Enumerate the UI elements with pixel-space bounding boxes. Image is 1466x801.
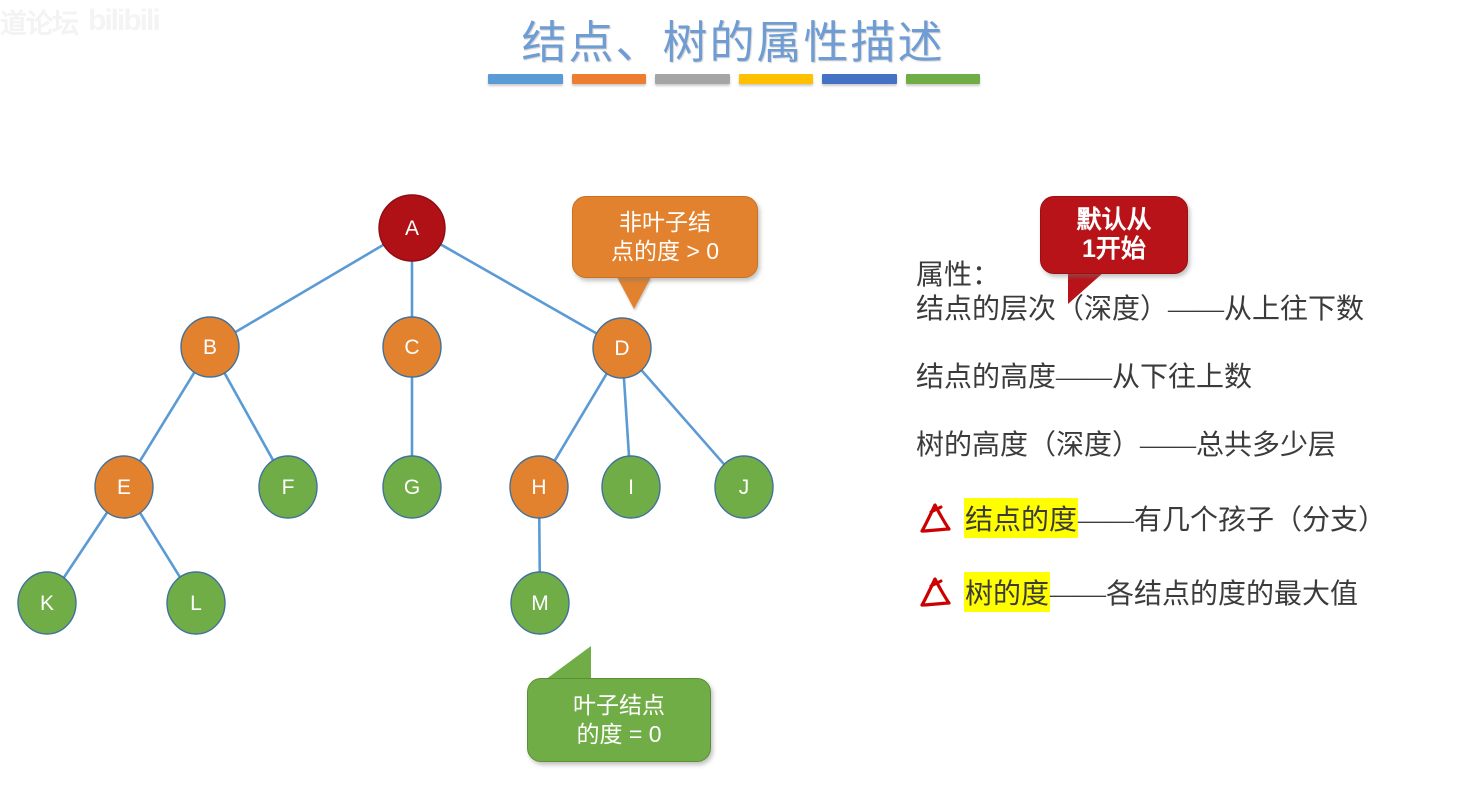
properties-panel: 属性： 结点的层次（深度）——从上往下数 结点的高度——从下往上数 树的高度（深… bbox=[916, 262, 1456, 612]
tree-edge-D-H bbox=[553, 371, 609, 464]
tree-node-D[interactable]: D bbox=[593, 318, 651, 378]
node-label-M: M bbox=[531, 592, 549, 615]
property-node-degree-row: 结点的度 ——有几个孩子（分支） bbox=[916, 498, 1456, 538]
tree-node-H[interactable]: H bbox=[510, 456, 568, 518]
tree-edge-E-K bbox=[62, 509, 109, 581]
accent-bar-6 bbox=[906, 74, 981, 84]
tree-node-E[interactable]: E bbox=[95, 456, 153, 518]
tree-edge-H-M bbox=[539, 514, 540, 577]
triangle-bullet-icon bbox=[916, 575, 954, 609]
tree-node-G[interactable]: G bbox=[383, 456, 441, 518]
tree-edge-D-I bbox=[624, 375, 630, 461]
node-label-G: G bbox=[404, 476, 420, 499]
tree-edge-B-F bbox=[223, 370, 275, 463]
nonleaf-callout-text: 非叶子结 点的度 > 0 bbox=[611, 208, 719, 267]
nonleaf-callout-line2: 点的度 > 0 bbox=[611, 238, 719, 264]
node-label-A: A bbox=[405, 217, 419, 240]
tree-node-A[interactable]: A bbox=[379, 195, 445, 261]
tree-node-J[interactable]: J bbox=[715, 456, 773, 518]
tree-node-C[interactable]: C bbox=[383, 317, 441, 377]
default-start-line2: 1开始 bbox=[1082, 235, 1146, 263]
tree-diagram: ABCDEFGHIJKLM bbox=[0, 0, 860, 801]
leaf-callout-text: 叶子结点 的度 = 0 bbox=[573, 691, 665, 750]
tree-edge-E-L bbox=[138, 510, 182, 581]
node-label-C: C bbox=[404, 336, 419, 359]
tree-node-B[interactable]: B bbox=[181, 317, 239, 377]
tree-node-M[interactable]: M bbox=[511, 572, 569, 634]
triangle-bullet-icon bbox=[916, 501, 954, 535]
property-node-degree-rest: ——有几个孩子（分支） bbox=[1078, 498, 1386, 538]
panel-heading: 属性： bbox=[916, 262, 1456, 290]
nonleaf-callout-tail bbox=[617, 277, 651, 309]
tree-node-F[interactable]: F bbox=[259, 456, 317, 518]
nonleaf-degree-callout: 非叶子结 点的度 > 0 bbox=[572, 196, 758, 278]
tree-edge-A-B bbox=[233, 243, 386, 333]
leaf-callout-line1: 叶子结点 bbox=[573, 692, 665, 718]
property-node-level: 结点的层次（深度）——从上往下数 bbox=[916, 296, 1456, 324]
tree-node-K[interactable]: K bbox=[18, 572, 76, 634]
node-label-I: I bbox=[628, 476, 634, 499]
node-label-E: E bbox=[117, 476, 131, 499]
tree-edge-B-E bbox=[138, 370, 196, 465]
property-tree-degree-highlight: 树的度 bbox=[964, 572, 1050, 612]
tree-node-L[interactable]: L bbox=[167, 572, 225, 634]
node-label-L: L bbox=[190, 592, 202, 615]
property-node-degree-highlight: 结点的度 bbox=[964, 498, 1078, 538]
tree-node-I[interactable]: I bbox=[602, 456, 660, 518]
default-start-callout-text: 默认从 1开始 bbox=[1076, 206, 1151, 265]
node-label-H: H bbox=[531, 476, 546, 499]
leaf-callout-tail bbox=[545, 646, 591, 680]
leaf-degree-callout: 叶子结点 的度 = 0 bbox=[527, 678, 711, 762]
slide-canvas: 道论坛 bilibili 结点、树的属性描述 ABCDEFGHIJKLM 非叶子… bbox=[0, 0, 1466, 801]
node-label-F: F bbox=[282, 476, 295, 499]
property-tree-degree-rest: ——各结点的度的最大值 bbox=[1050, 572, 1358, 612]
nonleaf-callout-line1: 非叶子结 bbox=[619, 209, 711, 235]
tree-edge-D-J bbox=[640, 368, 727, 467]
node-label-D: D bbox=[614, 337, 629, 360]
default-start-line1: 默认从 bbox=[1076, 206, 1151, 234]
property-tree-degree-row: 树的度 ——各结点的度的最大值 bbox=[916, 572, 1456, 612]
node-label-B: B bbox=[203, 336, 217, 359]
property-tree-height: 树的高度（深度）——总共多少层 bbox=[916, 432, 1456, 460]
property-node-height: 结点的高度——从下往上数 bbox=[916, 364, 1456, 392]
leaf-callout-line2: 的度 = 0 bbox=[576, 721, 661, 747]
node-label-K: K bbox=[40, 592, 54, 615]
node-label-J: J bbox=[739, 476, 750, 499]
